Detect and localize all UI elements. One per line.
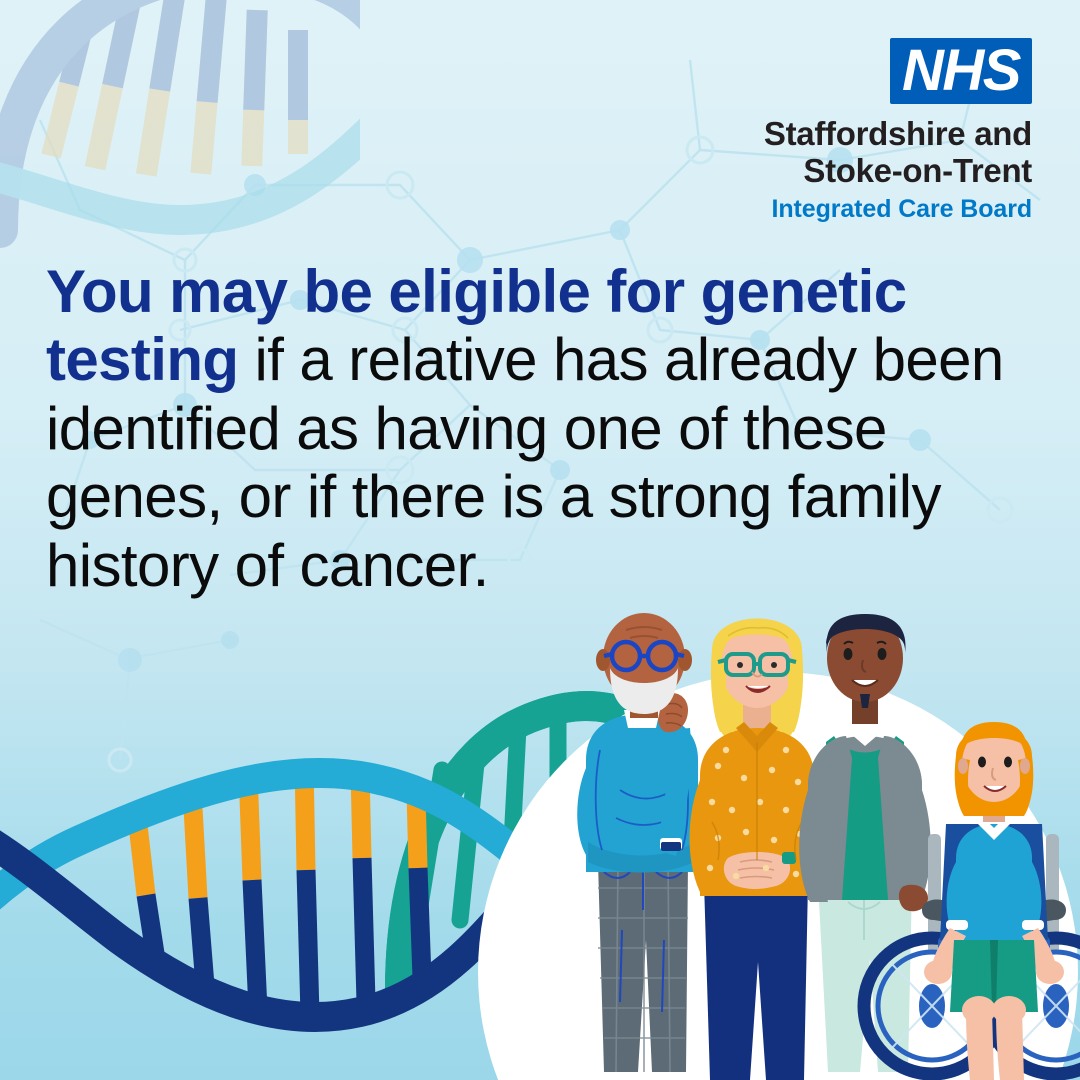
organisation-name-line-1: Staffordshire and (764, 116, 1032, 153)
nhs-logo-badge: NHS (890, 38, 1032, 104)
nhs-icb-logo: NHS Staffordshire and Stoke-on-Trent Int… (764, 38, 1032, 224)
nhs-genetic-testing-poster: NHS Staffordshire and Stoke-on-Trent Int… (0, 0, 1080, 1080)
page-headline: You may be eligible for genetic testing … (46, 258, 1006, 600)
organisation-name-line-2: Stoke-on-Trent (764, 153, 1032, 190)
dna-double-helix-faded-icon (0, 0, 360, 290)
white-circle-backdrop (478, 672, 1078, 1080)
organisation-subtitle: Integrated Care Board (764, 195, 1032, 224)
nhs-wordmark: NHS (902, 44, 1020, 97)
